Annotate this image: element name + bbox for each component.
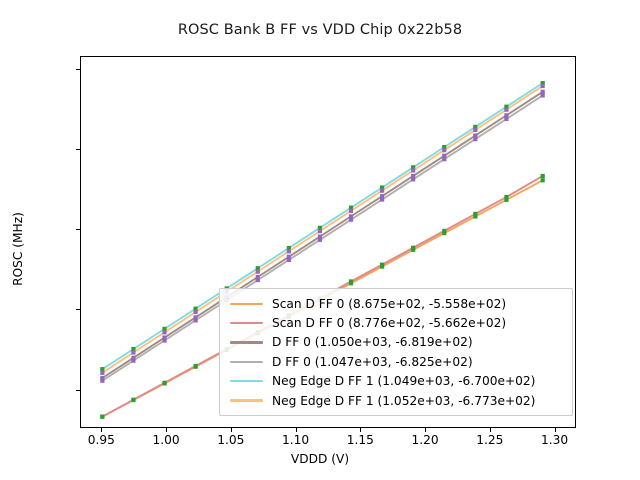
data-point-marker bbox=[100, 414, 104, 418]
data-point-marker bbox=[504, 195, 508, 199]
data-point-marker bbox=[131, 350, 135, 354]
legend-color-swatch bbox=[230, 361, 263, 363]
data-point-marker bbox=[256, 270, 260, 274]
legend-item: Neg Edge D FF 1 (1.052e+03, -6.773e+02) bbox=[226, 391, 565, 410]
legend-item: D FF 0 (1.050e+03, -6.819e+02) bbox=[226, 333, 565, 352]
x-tick-mark bbox=[166, 428, 167, 432]
data-point-marker bbox=[473, 137, 477, 141]
data-point-marker bbox=[380, 189, 384, 193]
y-axis-label: ROSC (MHz) bbox=[11, 149, 25, 349]
data-point-marker bbox=[100, 371, 104, 375]
legend-color-swatch bbox=[230, 399, 263, 401]
data-point-marker bbox=[411, 246, 415, 250]
data-point-marker bbox=[411, 168, 415, 172]
legend-item: Scan D FF 0 (8.776e+02, -5.662e+02) bbox=[226, 313, 565, 332]
x-tick-mark bbox=[490, 428, 491, 432]
matplotlib-figure: ROSC Bank B FF vs VDD Chip 0x22b58 ROSC … bbox=[0, 0, 640, 480]
data-point-marker bbox=[162, 330, 166, 334]
x-tick-label: 1.05 bbox=[201, 433, 261, 447]
data-point-marker bbox=[541, 90, 545, 94]
x-tick-label: 1.25 bbox=[460, 433, 520, 447]
legend-label: Scan D FF 0 (8.675e+02, -5.558e+02) bbox=[272, 297, 506, 311]
data-point-marker bbox=[473, 212, 477, 216]
data-point-marker bbox=[162, 381, 166, 385]
x-tick-mark bbox=[101, 428, 102, 432]
x-tick-mark bbox=[555, 428, 556, 432]
data-point-marker bbox=[318, 229, 322, 233]
chart-title: ROSC Bank B FF vs VDD Chip 0x22b58 bbox=[0, 22, 640, 38]
data-point-marker bbox=[100, 379, 104, 383]
x-axis-label: VDDD (V) bbox=[0, 452, 640, 466]
legend-item: D FF 0 (1.047e+03, -6.825e+02) bbox=[226, 352, 565, 371]
y-tick-mark bbox=[76, 69, 80, 70]
data-point-marker bbox=[287, 249, 291, 253]
data-point-marker bbox=[380, 197, 384, 201]
data-point-marker bbox=[349, 218, 353, 222]
legend-label: D FF 0 (1.047e+03, -6.825e+02) bbox=[272, 355, 473, 369]
x-tick-mark bbox=[360, 428, 361, 432]
data-point-marker bbox=[131, 398, 135, 402]
y-tick-mark bbox=[76, 309, 80, 310]
data-point-marker bbox=[349, 209, 353, 213]
data-point-marker bbox=[131, 359, 135, 363]
legend-color-swatch bbox=[230, 322, 263, 324]
data-point-marker bbox=[162, 338, 166, 342]
data-point-marker bbox=[504, 113, 508, 117]
y-tick-mark bbox=[76, 229, 80, 230]
y-tick-mark bbox=[76, 390, 80, 391]
data-point-marker bbox=[100, 367, 104, 371]
data-point-marker bbox=[194, 310, 198, 314]
data-point-marker bbox=[504, 108, 508, 112]
legend-item: Scan D FF 0 (8.675e+02, -5.558e+02) bbox=[226, 294, 565, 313]
x-tick-label: 1.10 bbox=[266, 433, 326, 447]
data-point-marker bbox=[442, 157, 446, 161]
data-point-marker bbox=[504, 117, 508, 121]
x-tick-mark bbox=[425, 428, 426, 432]
x-tick-mark bbox=[296, 428, 297, 432]
data-point-marker bbox=[411, 177, 415, 181]
x-tick-label: 1.30 bbox=[525, 433, 585, 447]
data-point-marker bbox=[318, 238, 322, 242]
x-tick-label: 0.95 bbox=[71, 433, 131, 447]
legend-item: Neg Edge D FF 1 (1.049e+03, -6.700e+02) bbox=[226, 372, 565, 391]
x-tick-label: 1.15 bbox=[330, 433, 390, 447]
data-point-marker bbox=[541, 178, 545, 182]
legend-color-swatch bbox=[230, 303, 263, 305]
data-point-marker bbox=[287, 258, 291, 262]
data-point-marker bbox=[380, 263, 384, 267]
data-point-marker bbox=[541, 84, 545, 88]
x-tick-label: 1.20 bbox=[395, 433, 455, 447]
data-point-marker bbox=[194, 318, 198, 322]
legend-label: Neg Edge D FF 1 (1.052e+03, -6.773e+02) bbox=[272, 394, 535, 408]
data-point-marker bbox=[473, 128, 477, 132]
chart-legend: Scan D FF 0 (8.675e+02, -5.558e+02)Scan … bbox=[219, 288, 573, 416]
data-point-marker bbox=[541, 174, 545, 178]
x-tick-label: 1.00 bbox=[136, 433, 196, 447]
data-point-marker bbox=[442, 229, 446, 233]
legend-label: Neg Edge D FF 1 (1.049e+03, -6.700e+02) bbox=[272, 374, 535, 388]
legend-label: Scan D FF 0 (8.776e+02, -5.662e+02) bbox=[272, 316, 506, 330]
legend-color-swatch bbox=[230, 380, 263, 382]
legend-label: D FF 0 (1.050e+03, -6.819e+02) bbox=[272, 335, 473, 349]
x-tick-mark bbox=[231, 428, 232, 432]
y-tick-mark bbox=[76, 149, 80, 150]
data-point-marker bbox=[349, 279, 353, 283]
data-point-marker bbox=[541, 93, 545, 97]
data-point-marker bbox=[194, 364, 198, 368]
data-point-marker bbox=[256, 278, 260, 282]
data-point-marker bbox=[442, 148, 446, 152]
legend-color-swatch bbox=[230, 341, 263, 343]
